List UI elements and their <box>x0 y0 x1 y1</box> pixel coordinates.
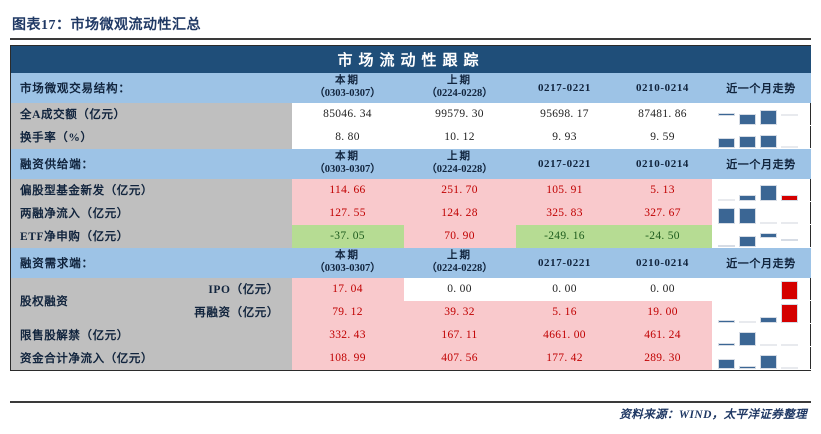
sparkline-bar <box>760 185 777 201</box>
table-cell-value: 0. 00 <box>404 278 516 301</box>
table-title: 市场流动性跟踪 <box>12 47 811 73</box>
column-header-week4-col: 0210-0214 <box>614 248 712 278</box>
table-cell-value: 17. 04 <box>292 278 404 301</box>
table-cell-value: 251. 70 <box>404 179 516 202</box>
table-row: 偏股型基金新发（亿元）114. 66251. 70105. 915. 13 <box>12 179 811 202</box>
sparkline-bar <box>781 344 798 346</box>
figure-page: 图表17：市场微观流动性汇总 市场流动性跟踪市场微观交易结构：本期（0303-0… <box>0 0 821 434</box>
table-cell-value: 9. 59 <box>614 126 712 149</box>
table-cell-value: 167. 11 <box>404 324 516 347</box>
trend-sparkline-cell <box>712 324 811 347</box>
sparkline-bar <box>781 281 798 300</box>
liquidity-table: 市场流动性跟踪市场微观交易结构：本期（0303-0307）上期（0224-022… <box>11 46 811 370</box>
sparkline-bar <box>781 222 798 224</box>
table-cell-value: 9. 93 <box>516 126 614 149</box>
table-title-row: 市场流动性跟踪 <box>12 47 811 73</box>
sparkline-bar <box>739 332 756 346</box>
section-title: 融资供给端： <box>12 149 292 179</box>
table-cell-value: 5. 13 <box>614 179 712 202</box>
table-cell-value: 95698. 17 <box>516 103 614 126</box>
table-cell-value: 0. 00 <box>516 278 614 301</box>
sparkline-chart <box>717 325 805 346</box>
table-cell-value: 0. 00 <box>614 278 712 301</box>
sparkline-bar <box>718 320 735 323</box>
liquidity-table-body: 市场流动性跟踪市场微观交易结构：本期（0303-0307）上期（0224-022… <box>12 47 811 370</box>
sparkline-bar <box>718 138 735 148</box>
column-header-line1: 上期 <box>404 151 515 164</box>
table-cell-value: 124. 28 <box>404 202 516 225</box>
column-header-previous-col: 上期（0224-0228） <box>404 73 516 103</box>
table-cell-value: 79. 12 <box>292 301 404 324</box>
column-header-week3-col: 0217-0221 <box>516 149 614 179</box>
section-header-trading-structure: 市场微观交易结构：本期（0303-0307）上期（0224-0228）0217-… <box>12 73 811 103</box>
sparkline-chart <box>717 104 805 125</box>
sparkline-bar <box>781 367 798 369</box>
table-row: 全A成交额（亿元）85046. 3499579. 3095698. 178748… <box>12 103 811 126</box>
row-label: 换手率（%） <box>12 126 292 149</box>
sparkline-chart <box>717 302 805 323</box>
table-row: 换手率（%）8. 8010. 129. 939. 59 <box>12 126 811 149</box>
table-row: 资金合计净流入（亿元）108. 99407. 56177. 42289. 30 <box>12 347 811 370</box>
sparkline-bar <box>760 110 777 125</box>
trend-sparkline-cell <box>712 347 811 370</box>
table-cell-value: 87481. 86 <box>614 103 712 126</box>
liquidity-table-wrap: 市场流动性跟踪市场微观交易结构：本期（0303-0307）上期（0224-022… <box>10 45 811 371</box>
table-cell-value: 114. 66 <box>292 179 404 202</box>
trend-sparkline-cell <box>712 179 811 202</box>
top-rule <box>10 38 811 40</box>
table-cell-value: 177. 42 <box>516 347 614 370</box>
row-label: 资金合计净流入（亿元） <box>12 347 292 370</box>
trend-sparkline-cell <box>712 103 811 126</box>
sparkline-bar <box>718 359 735 369</box>
table-cell-value: 407. 56 <box>404 347 516 370</box>
sparkline-bar <box>739 195 756 201</box>
sparkline-bar <box>760 317 777 323</box>
row-label: ETF净申购（亿元） <box>12 225 292 248</box>
table-cell-value: 8. 80 <box>292 126 404 149</box>
section-header-funding-demand: 融资需求端：本期（0303-0307）上期（0224-0228）0217-022… <box>12 248 811 278</box>
sparkline-bar <box>739 208 756 224</box>
sparkline-bar <box>718 245 735 247</box>
table-cell-value: 325. 83 <box>516 202 614 225</box>
sparkline-bar <box>760 355 777 369</box>
table-cell-value: 19. 00 <box>614 301 712 324</box>
sparkline-bar <box>718 113 735 116</box>
trend-sparkline-cell <box>712 126 811 149</box>
row-label: 两融净流入（亿元） <box>12 202 292 225</box>
sparkline-bar <box>760 233 777 238</box>
column-header-line1: 本期 <box>292 250 403 263</box>
table-cell-value: 10. 12 <box>404 126 516 149</box>
trend-sparkline-cell <box>712 225 811 248</box>
sparkline-bar <box>739 366 756 369</box>
column-header-line2: （0224-0228） <box>404 164 515 177</box>
table-cell-value: 127. 55 <box>292 202 404 225</box>
column-header-current-col: 本期（0303-0307） <box>292 73 404 103</box>
source-note: 资料来源：WIND，太平洋证券整理 <box>619 406 807 422</box>
sparkline-bar <box>781 195 798 201</box>
table-cell-value: 461. 24 <box>614 324 712 347</box>
row-label: 全A成交额（亿元） <box>12 103 292 126</box>
sparkline-chart <box>717 348 805 369</box>
row-group-label: 股权融资 <box>12 278 180 324</box>
section-title: 融资需求端： <box>12 248 292 278</box>
trend-sparkline-cell <box>712 301 811 324</box>
sparkline-bar <box>781 146 798 148</box>
column-header-line2: （0303-0307） <box>292 164 403 177</box>
column-header-trend: 近一个月走势 <box>712 73 811 103</box>
sparkline-chart <box>717 279 805 300</box>
column-header-line1: 上期 <box>404 75 515 88</box>
column-header-trend: 近一个月走势 <box>712 248 811 278</box>
sparkline-bar <box>781 304 798 323</box>
column-header-week3-col: 0217-0221 <box>516 248 614 278</box>
column-header-line2: （0303-0307） <box>292 88 403 101</box>
bottom-rule <box>10 401 811 403</box>
table-cell-value: 4661. 00 <box>516 324 614 347</box>
table-row: 限售股解禁（亿元）332. 43167. 114661. 00461. 24 <box>12 324 811 347</box>
table-cell-value: 108. 99 <box>292 347 404 370</box>
section-header-funding-supply: 融资供给端：本期（0303-0307）上期（0224-0228）0217-022… <box>12 149 811 179</box>
column-header-line1: 本期 <box>292 151 403 164</box>
row-label: 偏股型基金新发（亿元） <box>12 179 292 202</box>
column-header-current-col: 本期（0303-0307） <box>292 149 404 179</box>
section-title: 市场微观交易结构： <box>12 73 292 103</box>
sparkline-bar <box>739 321 756 323</box>
trend-sparkline-cell <box>712 202 811 225</box>
sparkline-bar <box>739 114 756 125</box>
table-row: ETF净申购（亿元）-37. 0570. 90-249. 16-24. 50 <box>12 225 811 248</box>
sparkline-chart <box>717 203 805 224</box>
table-row: 股权融资IPO（亿元）17. 040. 000. 000. 00 <box>12 278 811 301</box>
column-header-line2: （0224-0228） <box>404 263 515 276</box>
sparkline-bar <box>739 236 756 247</box>
table-cell-value: 70. 90 <box>404 225 516 248</box>
column-header-line2: （0303-0307） <box>292 263 403 276</box>
figure-caption: 图表17：市场微观流动性汇总 <box>12 14 201 34</box>
sparkline-bar <box>760 222 777 224</box>
sparkline-bar <box>739 136 756 148</box>
table-cell-value: 327. 67 <box>614 202 712 225</box>
column-header-current-col: 本期（0303-0307） <box>292 248 404 278</box>
table-row: 两融净流入（亿元）127. 55124. 28325. 83327. 67 <box>12 202 811 225</box>
sparkline-bar <box>760 344 777 346</box>
table-cell-value: -24. 50 <box>614 225 712 248</box>
table-cell-value: 105. 91 <box>516 179 614 202</box>
table-cell-value: 289. 30 <box>614 347 712 370</box>
table-cell-value: -37. 05 <box>292 225 404 248</box>
sparkline-bar <box>781 114 798 116</box>
row-label: IPO（亿元） <box>180 278 292 301</box>
column-header-previous-col: 上期（0224-0228） <box>404 248 516 278</box>
sparkline-chart <box>717 180 805 201</box>
column-header-week4-col: 0210-0214 <box>614 149 712 179</box>
row-label: 限售股解禁（亿元） <box>12 324 292 347</box>
sparkline-bar <box>781 239 798 241</box>
sparkline-bar <box>718 208 735 224</box>
sparkline-chart <box>717 127 805 148</box>
sparkline-bar <box>718 199 735 201</box>
row-label: 再融资（亿元） <box>180 301 292 324</box>
column-header-line2: （0224-0228） <box>404 88 515 101</box>
sparkline-bar <box>760 135 777 148</box>
trend-sparkline-cell <box>712 278 811 301</box>
column-header-week4-col: 0210-0214 <box>614 73 712 103</box>
sparkline-bar <box>718 343 735 346</box>
column-header-week3-col: 0217-0221 <box>516 73 614 103</box>
table-cell-value: 39. 32 <box>404 301 516 324</box>
table-cell-value: 99579. 30 <box>404 103 516 126</box>
table-cell-value: -249. 16 <box>516 225 614 248</box>
table-cell-value: 5. 16 <box>516 301 614 324</box>
column-header-trend: 近一个月走势 <box>712 149 811 179</box>
table-cell-value: 332. 43 <box>292 324 404 347</box>
sparkline-chart <box>717 226 805 247</box>
column-header-line1: 本期 <box>292 75 403 88</box>
column-header-line1: 上期 <box>404 250 515 263</box>
column-header-previous-col: 上期（0224-0228） <box>404 149 516 179</box>
table-cell-value: 85046. 34 <box>292 103 404 126</box>
